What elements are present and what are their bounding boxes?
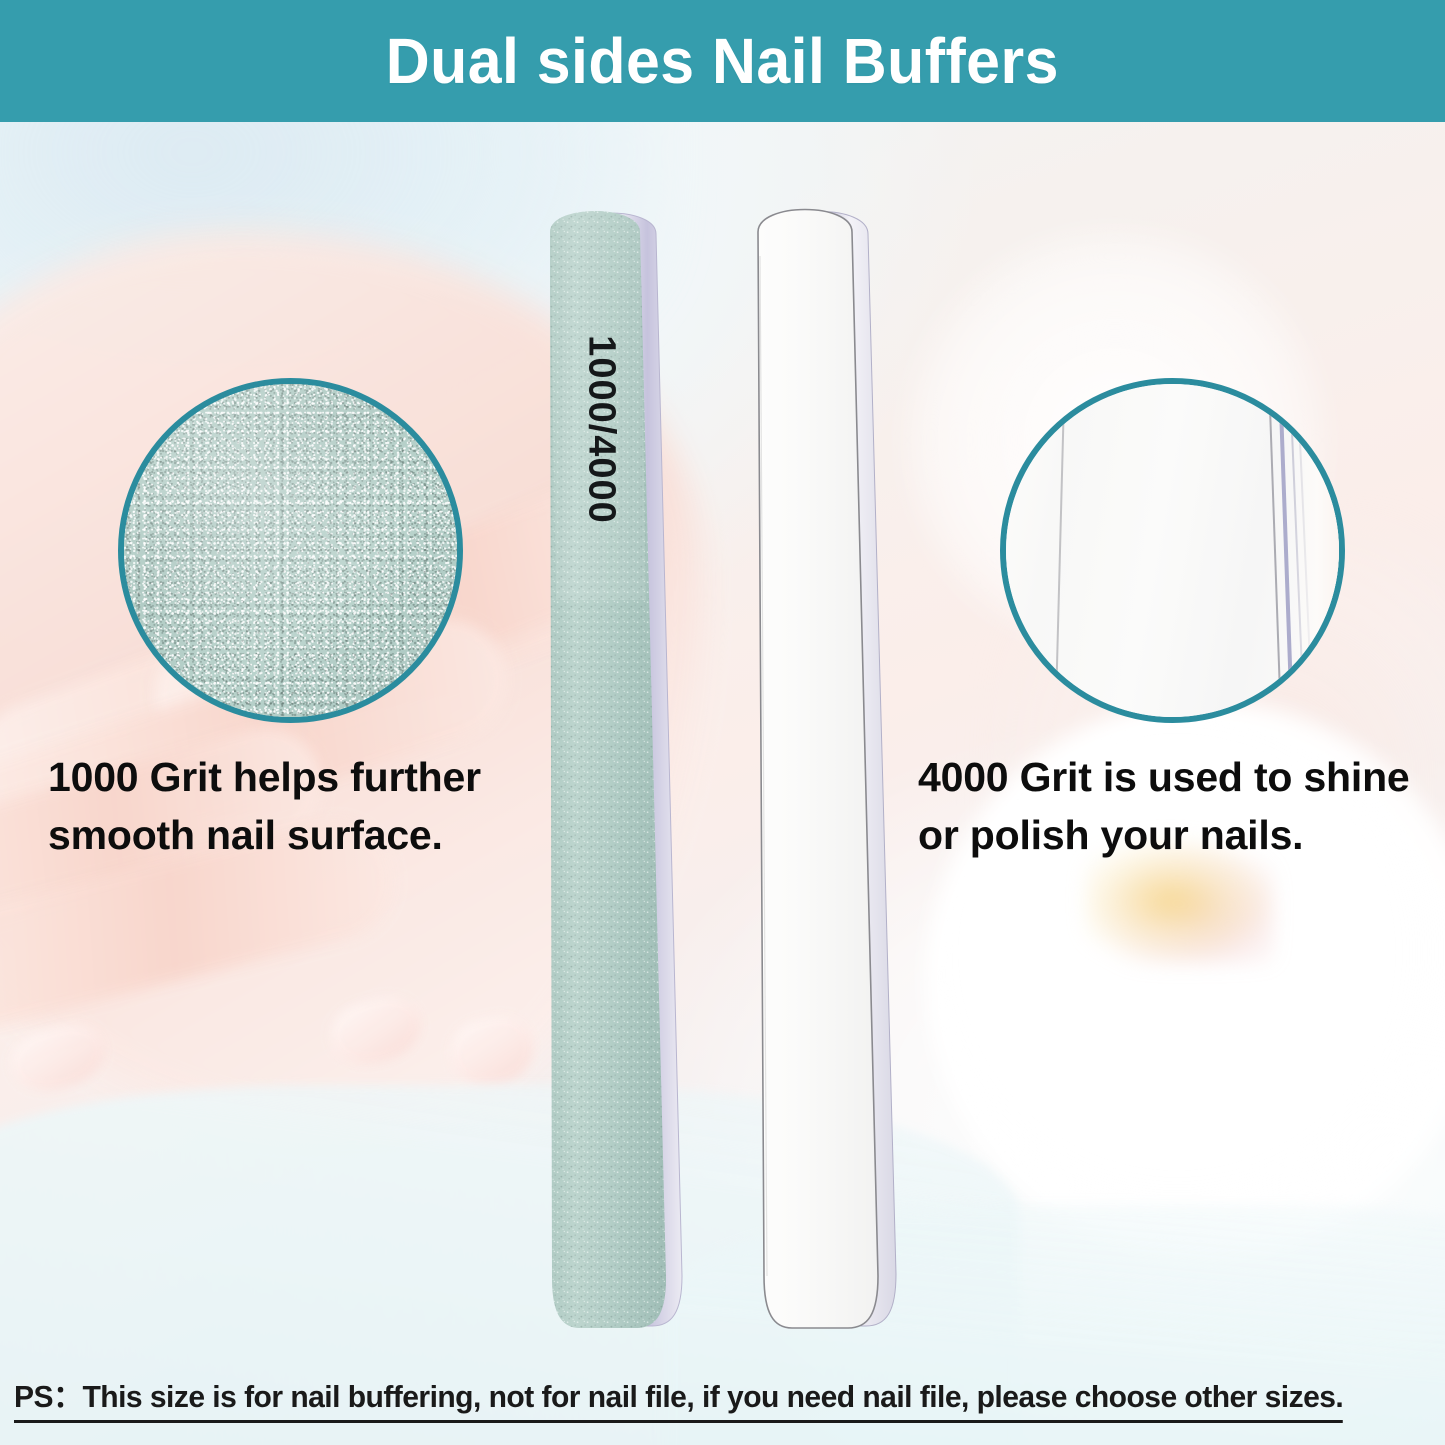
page-title: Dual sides Nail Buffers (386, 29, 1059, 93)
nail-buffer-white (718, 196, 916, 1348)
caption-4000-grit: 4000 Grit is used to shine or polish you… (918, 748, 1438, 864)
grit-1000-circle-inset (118, 378, 463, 723)
product-infographic: Dual sides Nail Buffers (0, 0, 1445, 1445)
grit-4000-circle-inset (1000, 378, 1345, 723)
smooth-surface-fade (1292, 384, 1339, 717)
grit-sheen-overlay (124, 384, 457, 717)
footer-note-text: PS：This size is for nail buffering, not … (14, 1381, 1343, 1423)
footer-note-bar: PS：This size is for nail buffering, not … (0, 1375, 1445, 1445)
nail-buffer-white-shape (718, 196, 916, 1348)
header-bar: Dual sides Nail Buffers (0, 0, 1445, 122)
smooth-surface-image (1006, 384, 1339, 717)
nail-buffer-green: 1000/4000 (506, 200, 696, 1348)
grit-label: 1000/4000 (580, 335, 623, 524)
caption-1000-grit: 1000 Grit helps further smooth nail surf… (48, 748, 518, 864)
buffer-edge-line (1054, 378, 1066, 723)
